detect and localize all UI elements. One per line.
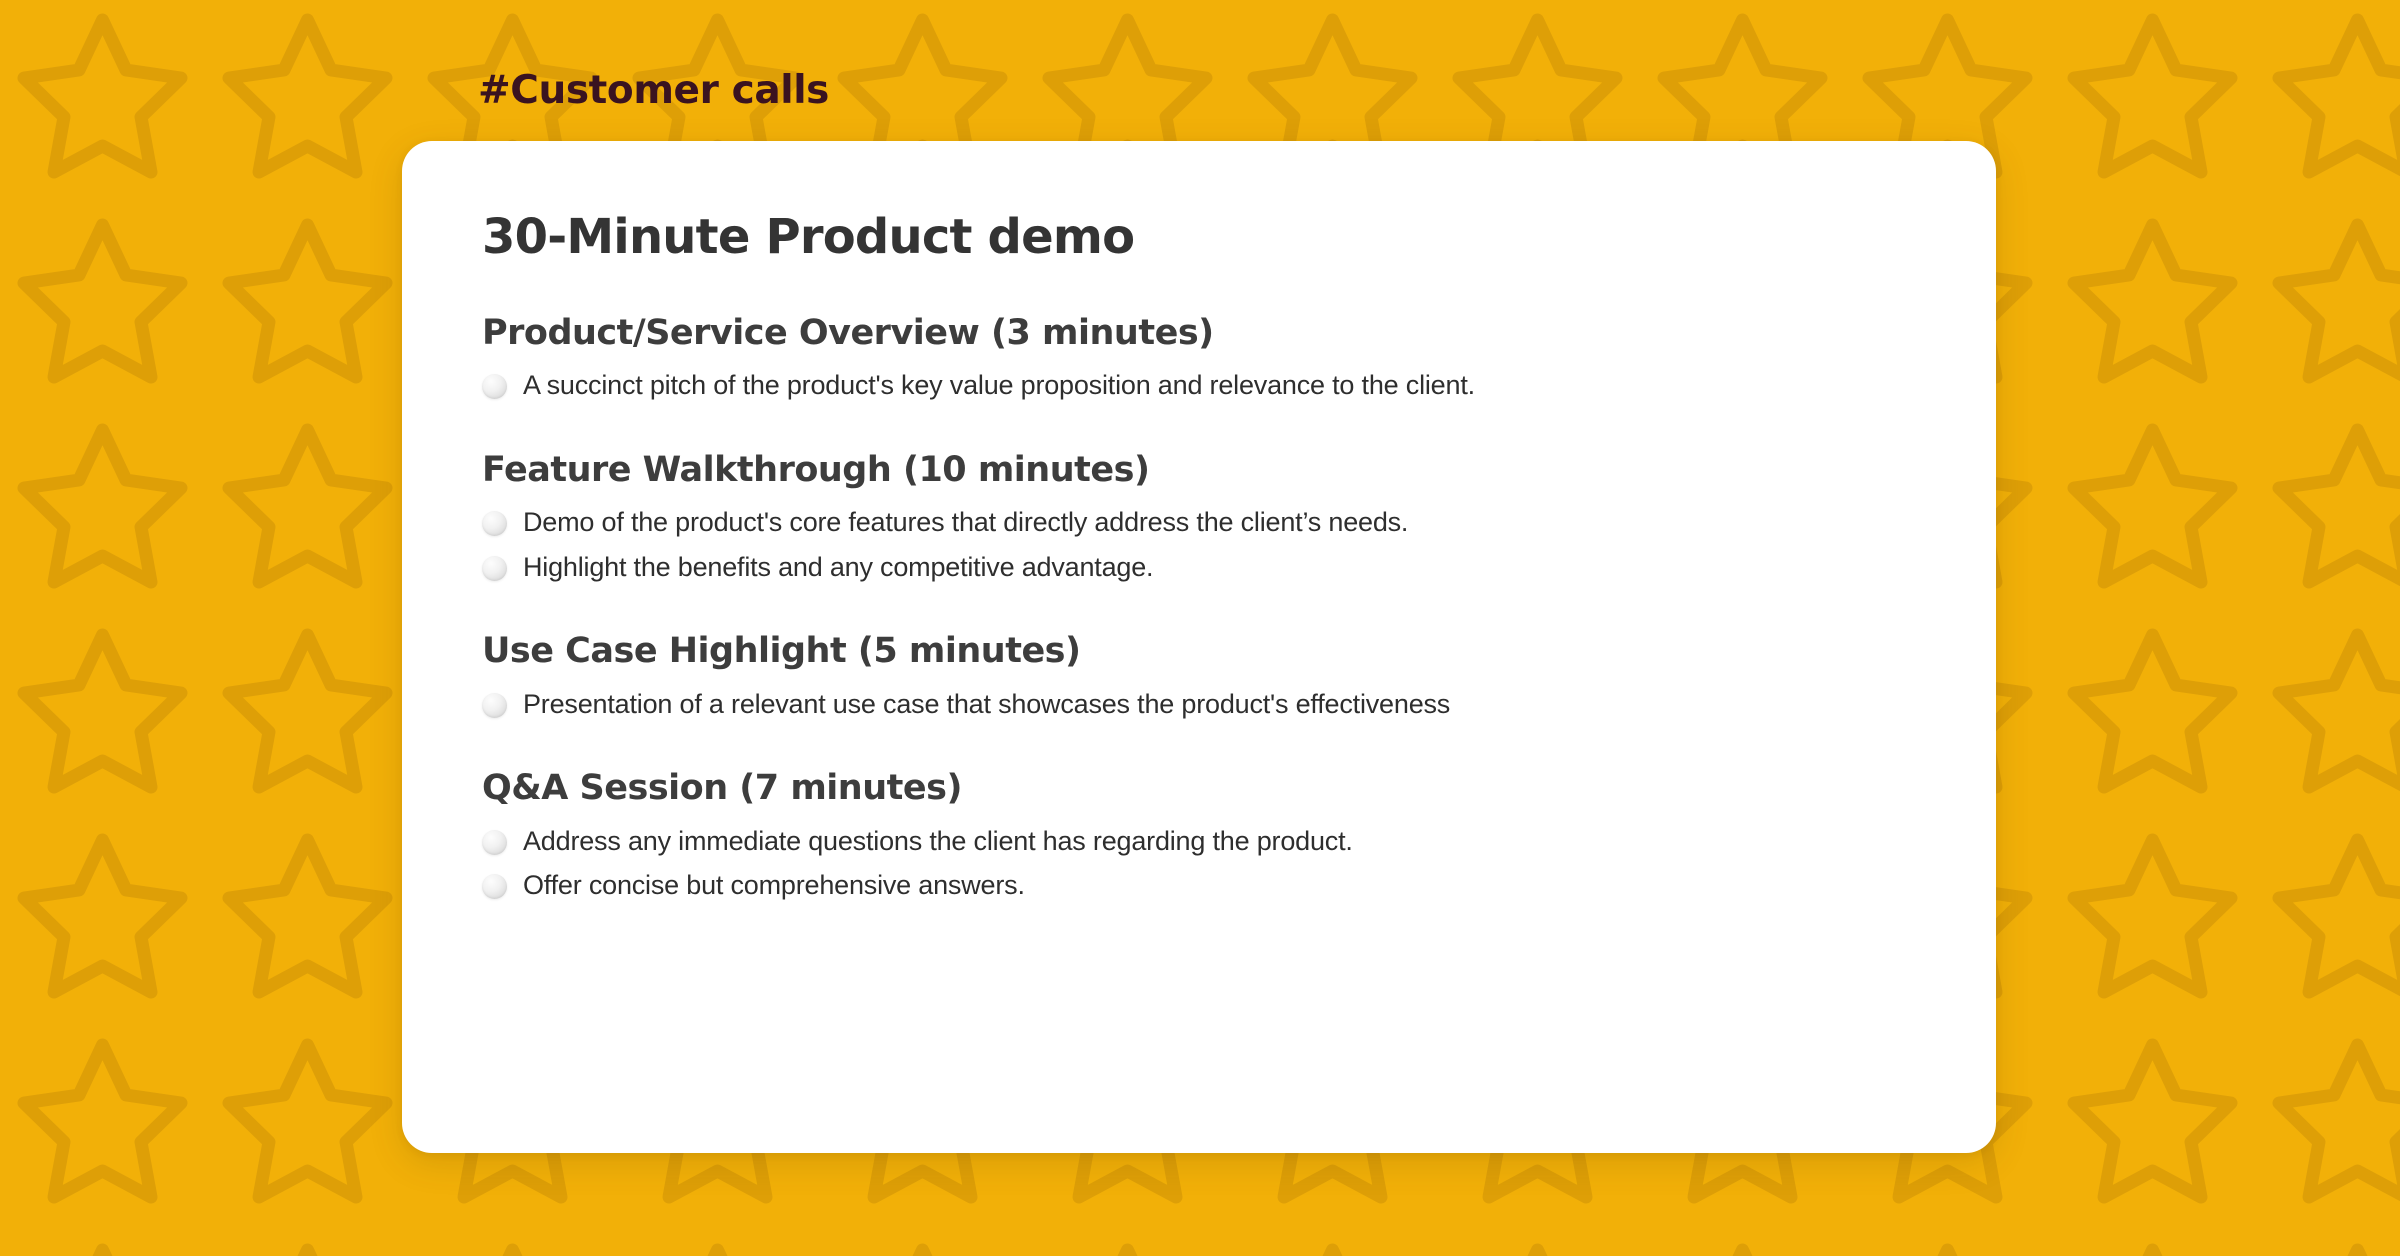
list-item: Offer concise but comprehensive answers. bbox=[482, 866, 1916, 904]
list-item-label: Highlight the benefits and any competiti… bbox=[523, 548, 1153, 586]
list-item: A succinct pitch of the product's key va… bbox=[482, 366, 1916, 404]
bullet-circle-icon bbox=[482, 374, 507, 399]
bullet-circle-icon bbox=[482, 511, 507, 536]
bullet-list: Address any immediate questions the clie… bbox=[482, 822, 1916, 905]
bullet-circle-icon bbox=[482, 693, 507, 718]
slide-canvas: #Customer calls 30-Minute Product demo P… bbox=[0, 0, 2400, 1256]
agenda-section: Feature Walkthrough (10 minutes) Demo of… bbox=[482, 449, 1916, 586]
list-item: Demo of the product's core features that… bbox=[482, 503, 1916, 541]
section-heading: Feature Walkthrough (10 minutes) bbox=[482, 449, 1916, 492]
bullet-list: A succinct pitch of the product's key va… bbox=[482, 366, 1916, 404]
section-heading: Product/Service Overview (3 minutes) bbox=[482, 312, 1916, 355]
list-item-label: A succinct pitch of the product's key va… bbox=[523, 366, 1475, 404]
bullet-list: Demo of the product's core features that… bbox=[482, 503, 1916, 586]
list-item-label: Presentation of a relevant use case that… bbox=[523, 685, 1450, 723]
list-item-label: Demo of the product's core features that… bbox=[523, 503, 1408, 541]
list-item: Highlight the benefits and any competiti… bbox=[482, 548, 1916, 586]
agenda-section: Product/Service Overview (3 minutes) A s… bbox=[482, 312, 1916, 405]
content-card: 30-Minute Product demo Product/Service O… bbox=[402, 141, 1996, 1153]
agenda-section: Q&A Session (7 minutes) Address any imme… bbox=[482, 767, 1916, 904]
hashtag-label: #Customer calls bbox=[478, 68, 829, 113]
list-item: Presentation of a relevant use case that… bbox=[482, 685, 1916, 723]
bullet-circle-icon bbox=[482, 830, 507, 855]
list-item: Address any immediate questions the clie… bbox=[482, 822, 1916, 860]
agenda-section: Use Case Highlight (5 minutes) Presentat… bbox=[482, 630, 1916, 723]
page-title: 30-Minute Product demo bbox=[482, 209, 1916, 266]
bullet-list: Presentation of a relevant use case that… bbox=[482, 685, 1916, 723]
section-heading: Use Case Highlight (5 minutes) bbox=[482, 630, 1916, 673]
bullet-circle-icon bbox=[482, 874, 507, 899]
list-item-label: Offer concise but comprehensive answers. bbox=[523, 866, 1025, 904]
list-item-label: Address any immediate questions the clie… bbox=[523, 822, 1353, 860]
section-heading: Q&A Session (7 minutes) bbox=[482, 767, 1916, 810]
bullet-circle-icon bbox=[482, 556, 507, 581]
